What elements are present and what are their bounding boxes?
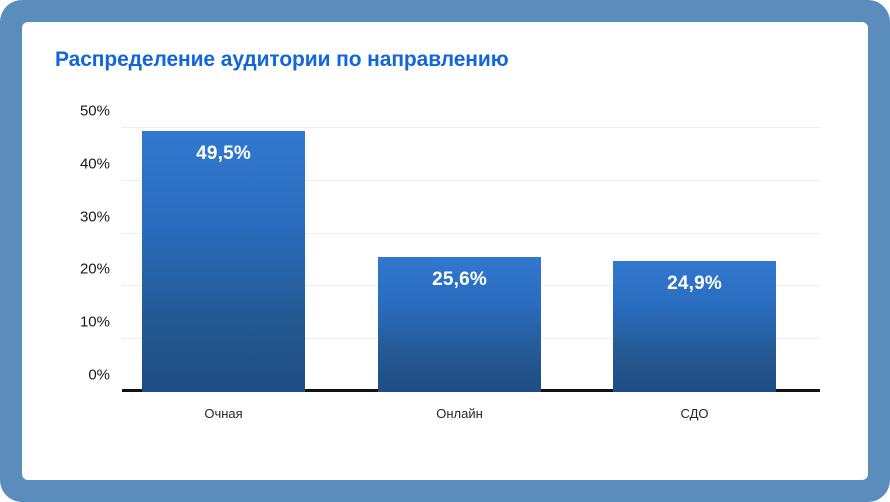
plot-area: 0%10%20%30%40%50%49,5%Очная25,6%Онлайн24… <box>122 106 820 416</box>
bar-value-label: 24,9% <box>613 273 776 295</box>
x-axis-tick-label: СДО <box>613 406 776 421</box>
y-axis-tick-label: 20% <box>80 261 110 278</box>
bar-2[interactable]: 25,6%Онлайн <box>378 257 541 392</box>
bar-value-label: 49,5% <box>142 143 305 165</box>
chart-title: Распределение аудитории по направлению <box>55 48 509 72</box>
gridline: 50% <box>122 127 820 128</box>
bar-1[interactable]: 49,5%Очная <box>142 131 305 392</box>
y-axis-tick-label: 0% <box>88 367 110 384</box>
x-axis-tick-label: Очная <box>142 406 305 421</box>
y-axis-tick-label: 30% <box>80 208 110 225</box>
y-axis-tick-label: 50% <box>80 103 110 120</box>
outer-frame: Распределение аудитории по направлению 0… <box>0 0 890 502</box>
chart-card: Распределение аудитории по направлению 0… <box>22 22 868 480</box>
y-axis-tick-label: 40% <box>80 155 110 172</box>
bar-value-label: 25,6% <box>378 269 541 291</box>
x-axis-tick-label: Онлайн <box>378 406 541 421</box>
bar-3[interactable]: 24,9%СДО <box>613 261 776 392</box>
y-axis-tick-label: 10% <box>80 314 110 331</box>
